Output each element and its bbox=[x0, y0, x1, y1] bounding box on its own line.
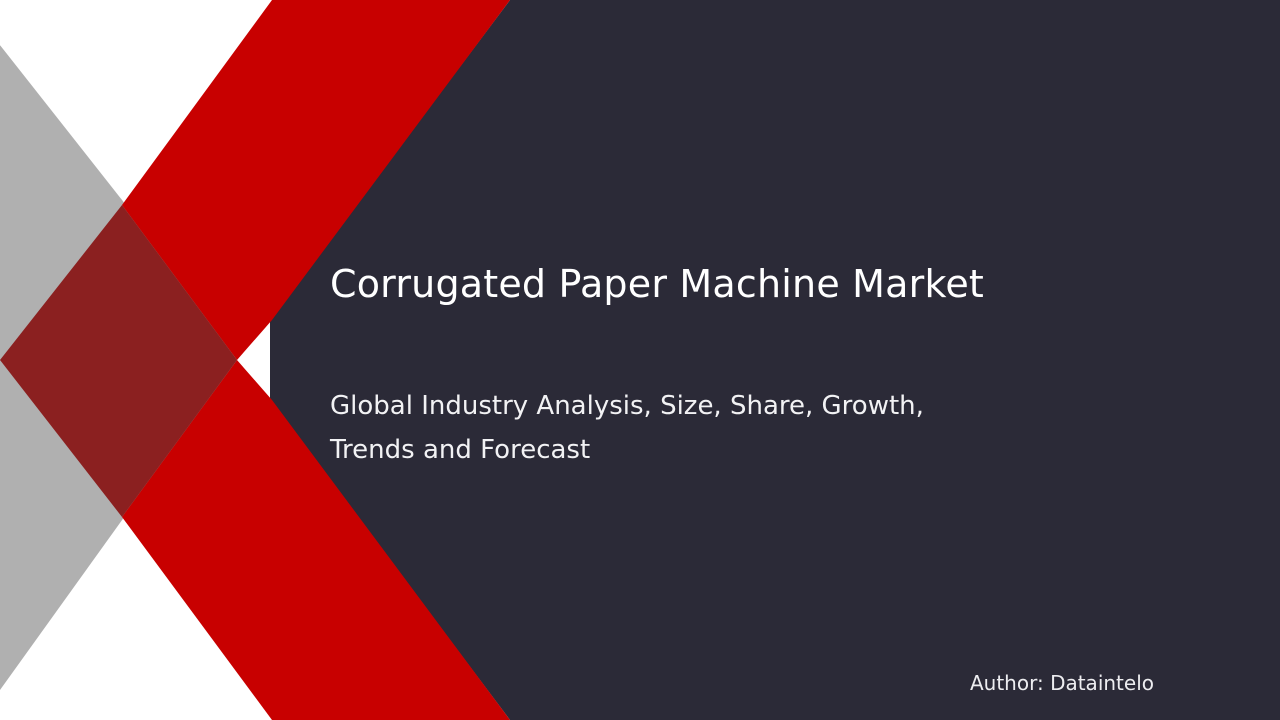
title-slide: Corrugated Paper Machine Market Global I… bbox=[0, 0, 1280, 720]
slide-subtitle: Global Industry Analysis, Size, Share, G… bbox=[330, 384, 990, 472]
slide-content: Corrugated Paper Machine Market Global I… bbox=[0, 0, 1280, 720]
page-title: Corrugated Paper Machine Market bbox=[330, 262, 1150, 307]
author-credit: Author: Dataintelo bbox=[970, 671, 1154, 695]
